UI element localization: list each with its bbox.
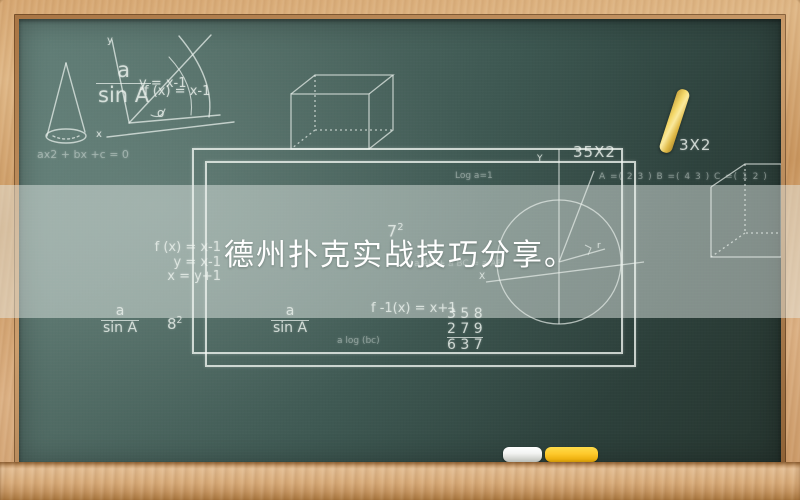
function-equations-group: y = x-1 [139,77,187,92]
page-title: 德州扑克实战技巧分享。 [224,230,576,274]
axis-x-line [107,122,234,137]
title-overlay-band: 德州扑克实战技巧分享。 [0,185,800,318]
cone-base-ellipse [46,129,86,143]
angle-label: o [157,107,164,120]
white-chalk-icon [503,447,542,462]
fn-line-2: y = x-1 [139,77,187,92]
quadratic-equation: ax2 + bx +c = 0 [37,149,129,161]
label-3x2: 3X2 [679,137,711,154]
eight-squared: 82 [167,316,182,333]
ray-lower [129,115,220,123]
axis-label-y: y [107,35,113,46]
cone-right-edge [66,63,85,132]
chalkboard-banner: a sin A y x o ax2 + bx +c = 0 f (x) = x-… [0,0,800,500]
cube-left [291,75,393,149]
chalk-ledge [0,462,800,500]
yellow-chalk-icon [545,447,598,462]
cone-base-dashes [53,136,79,139]
cone-left-edge [47,63,66,136]
axis-label-x: x [96,129,102,140]
